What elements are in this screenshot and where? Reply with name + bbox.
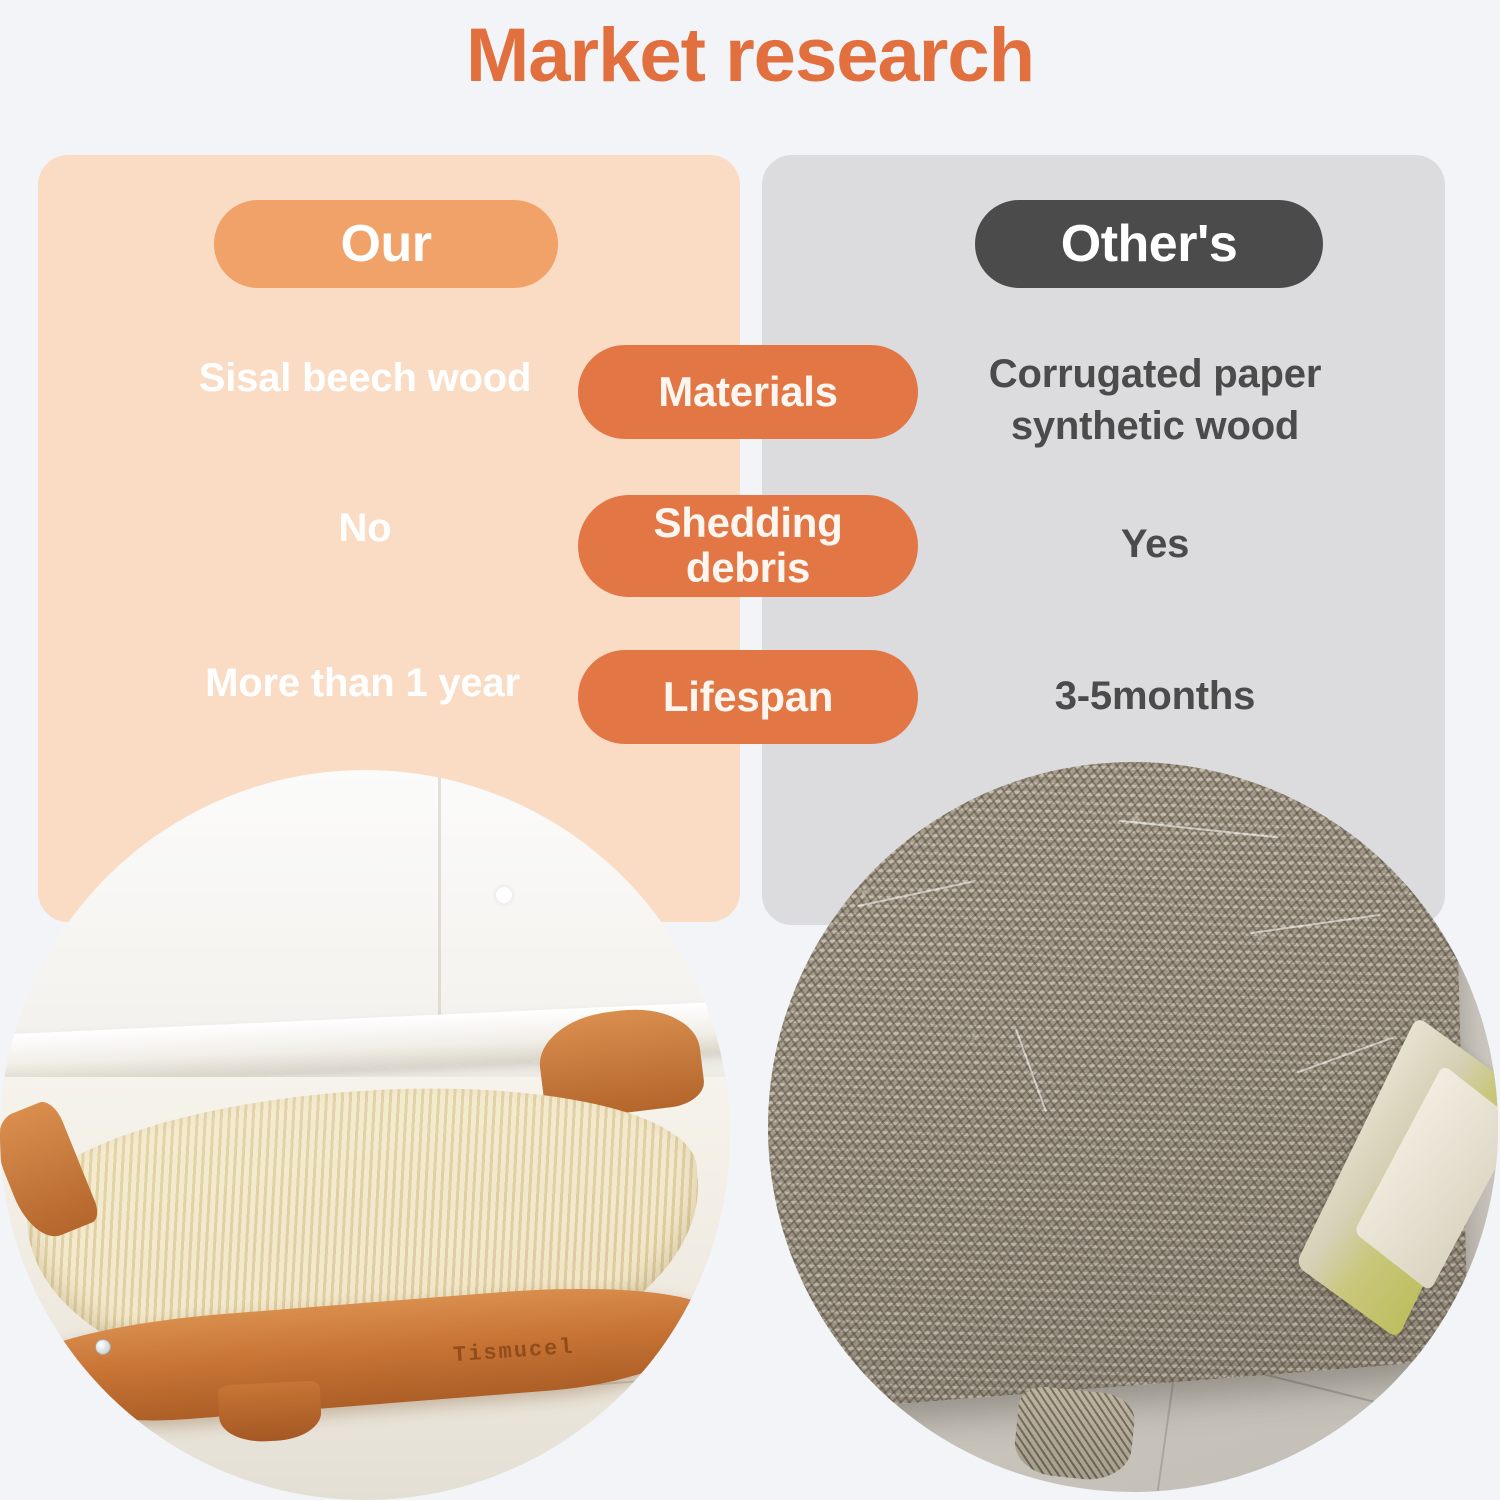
other-badge: Other's [975, 200, 1323, 288]
other-value-lifespan: 3-5months [925, 670, 1385, 722]
our-value-materials: Sisal beech wood [150, 355, 580, 401]
our-badge: Our [214, 200, 558, 288]
our-value-shedding: No [150, 505, 580, 551]
page-title: Market research [0, 14, 1500, 98]
feature-pill-lifespan: Lifespan [578, 650, 918, 744]
our-product-photo: Tismucel [0, 770, 730, 1500]
feature-pill-materials: Materials [578, 345, 918, 439]
cat-scratcher-scene: Tismucel [0, 770, 730, 1500]
our-value-lifespan: More than 1 year [145, 660, 580, 706]
feature-pill-shedding-debris: Shedding debris [578, 495, 918, 597]
corrugated-scratcher-scene [768, 762, 1498, 1492]
other-value-shedding: Yes [925, 518, 1385, 570]
other-value-materials: Corrugated paper synthetic wood [925, 348, 1385, 452]
other-product-photo [768, 762, 1498, 1492]
